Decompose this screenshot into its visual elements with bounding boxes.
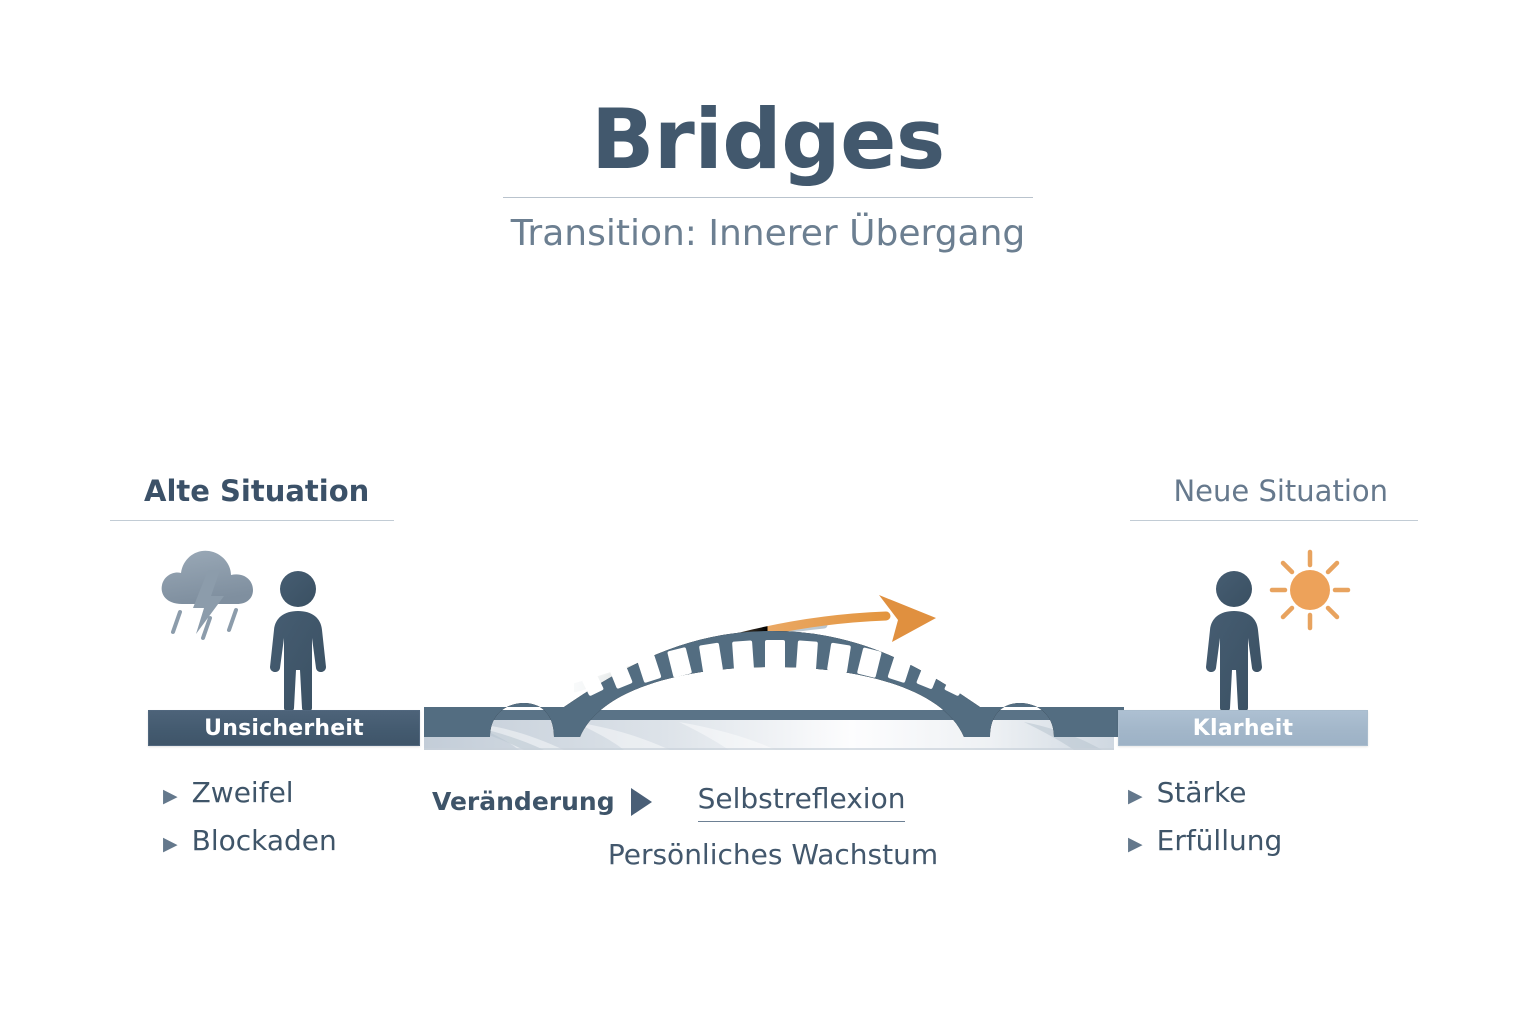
bullet-triangle-icon: ▶: [1128, 835, 1143, 854]
bullet-triangle-icon: ▶: [1128, 787, 1143, 806]
left-bullet-list: ▶ Zweifel ▶ Blockaden: [163, 776, 337, 872]
storm-cloud-icon: [152, 538, 272, 653]
right-bullet-list: ▶ Stärke ▶ Erfüllung: [1128, 776, 1282, 872]
left-platform-label: Unsicherheit: [204, 716, 364, 741]
change-label: Veränderung: [432, 787, 615, 817]
right-platform-label: Klarheit: [1193, 716, 1294, 741]
list-item-label: Blockaden: [192, 824, 337, 858]
person-icon-right: [1198, 570, 1270, 717]
bullet-triangle-icon: ▶: [163, 835, 178, 854]
bullet-triangle-icon: ▶: [163, 787, 178, 806]
growth-label: Persönliches Wachstum: [554, 838, 992, 872]
sun-icon: [1268, 548, 1352, 637]
left-platform-bar: Unsicherheit: [148, 710, 420, 746]
reflection-label: Selbstreflexion: [698, 782, 906, 822]
list-item: ▶ Zweifel: [163, 776, 337, 810]
list-item: ▶ Erfüllung: [1128, 824, 1282, 858]
play-triangle-icon: [631, 788, 652, 816]
bridge-illustration: [424, 585, 1124, 755]
list-item: ▶ Stärke: [1128, 776, 1282, 810]
list-item-label: Stärke: [1157, 776, 1247, 810]
list-item-label: Erfüllung: [1157, 824, 1283, 858]
center-caption-block: Veränderung Selbstreflexion Persönliches…: [432, 782, 992, 872]
list-item: ▶ Blockaden: [163, 824, 337, 858]
right-platform-bar: Klarheit: [1118, 710, 1368, 746]
list-item-label: Zweifel: [192, 776, 294, 810]
person-icon-left: [262, 570, 334, 717]
change-row: Veränderung Selbstreflexion: [432, 782, 992, 822]
